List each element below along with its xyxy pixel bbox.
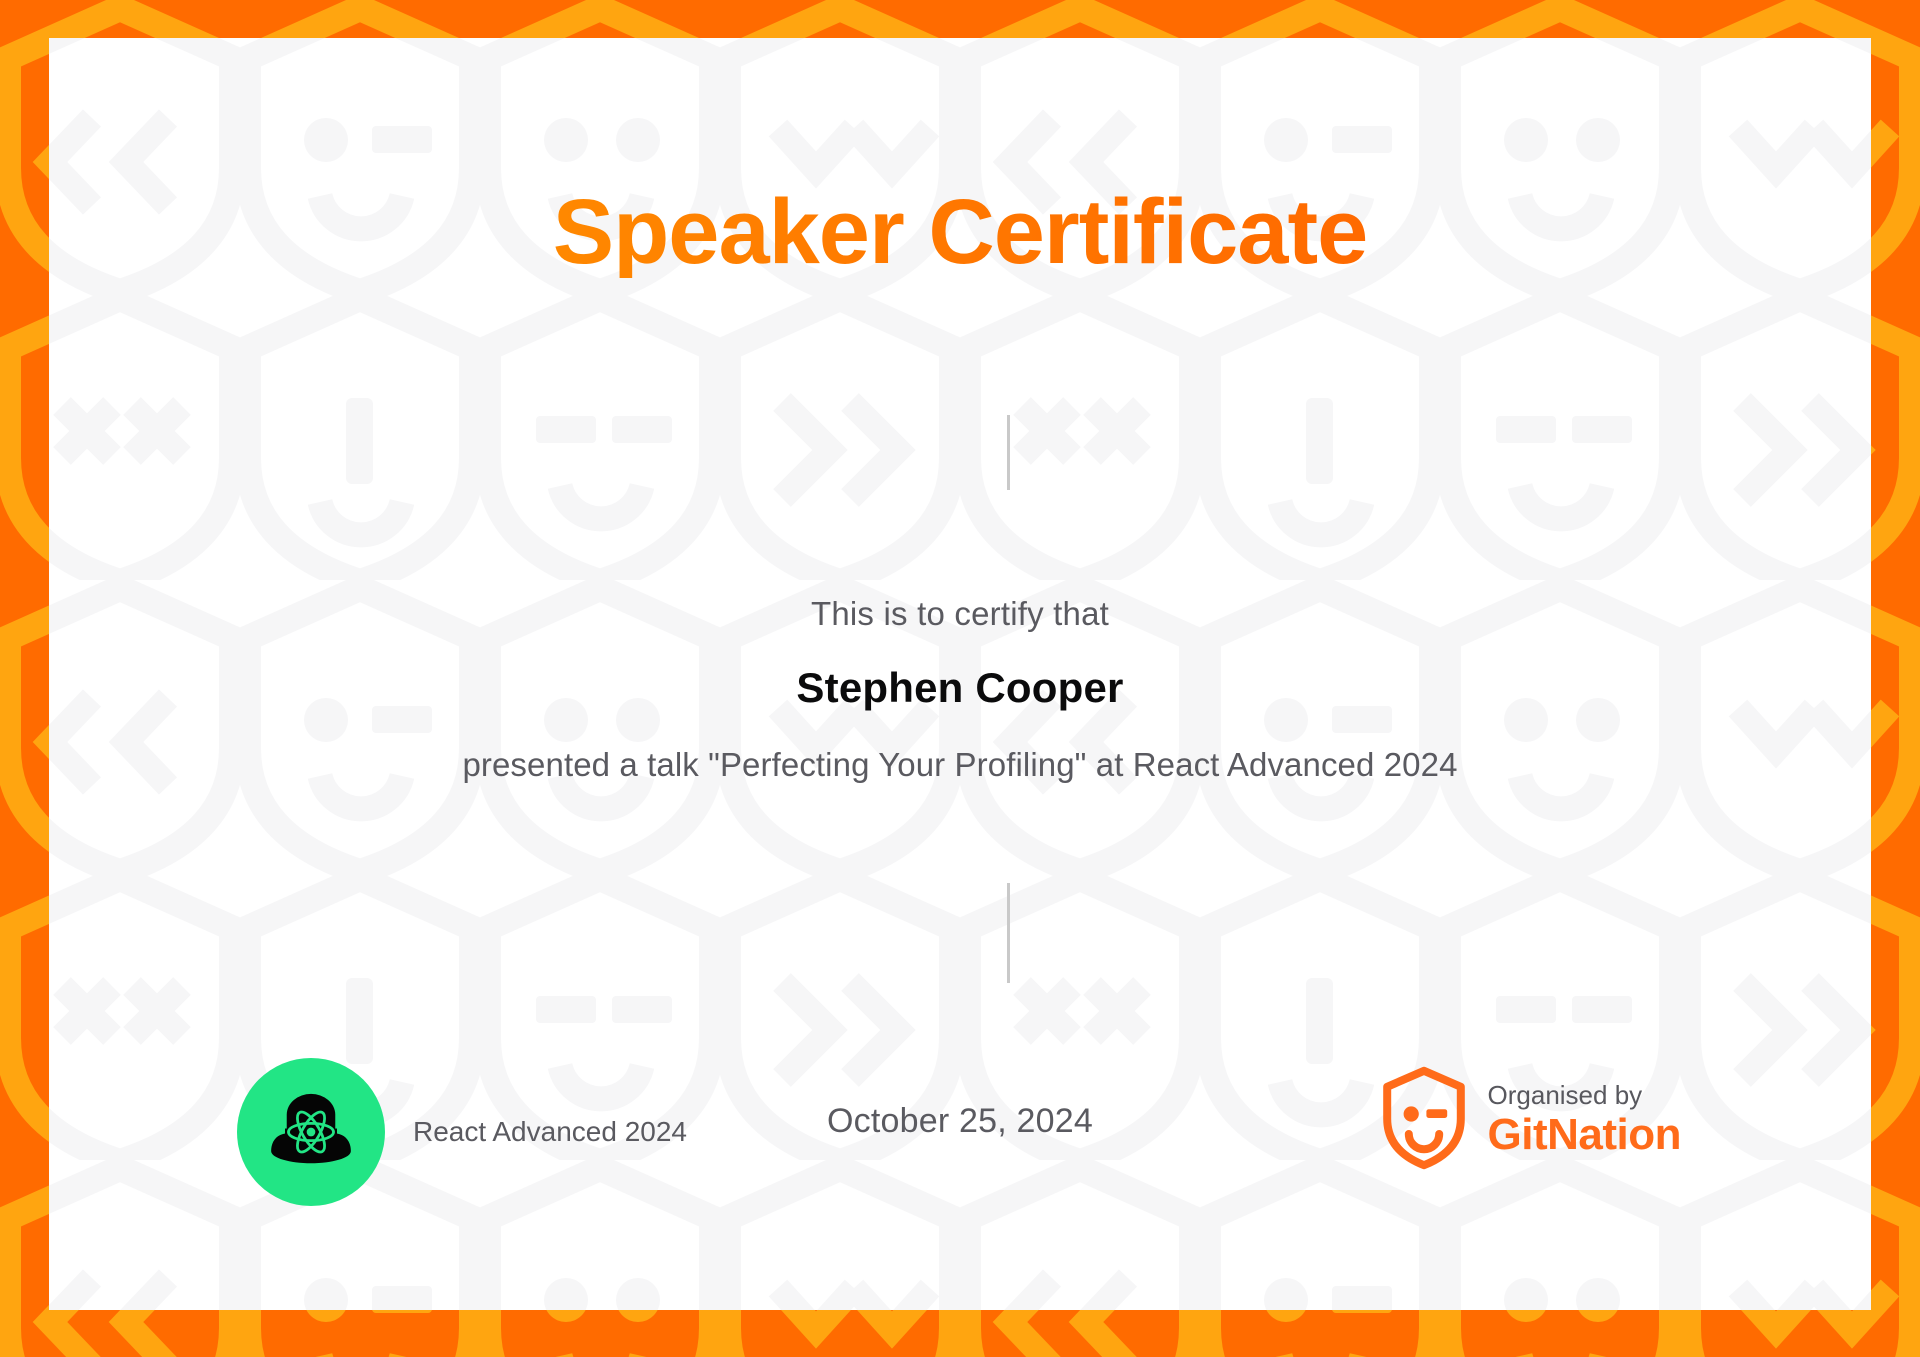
certificate-footer: React Advanced 2024 October 25, 2024 xyxy=(49,1048,1871,1238)
talk-description: presented a talk "Perfecting Your Profil… xyxy=(49,746,1871,784)
organiser-text: Organised by GitNation xyxy=(1488,1081,1681,1159)
gitnation-shield-face-icon xyxy=(1380,1066,1468,1175)
certify-line: This is to certify that xyxy=(49,595,1871,633)
page-title: Speaker Certificate xyxy=(49,186,1871,278)
organised-by-label: Organised by xyxy=(1488,1081,1681,1110)
certificate-page: Speaker Certificate This is to certify t… xyxy=(0,0,1920,1357)
organiser-name: GitNation xyxy=(1488,1110,1681,1159)
organiser-block: Organised by GitNation xyxy=(1380,1066,1681,1175)
divider-bottom xyxy=(1007,883,1010,983)
divider-top xyxy=(1007,415,1010,490)
recipient-name: Stephen Cooper xyxy=(49,664,1871,712)
certificate-card: Speaker Certificate This is to certify t… xyxy=(49,38,1871,1310)
